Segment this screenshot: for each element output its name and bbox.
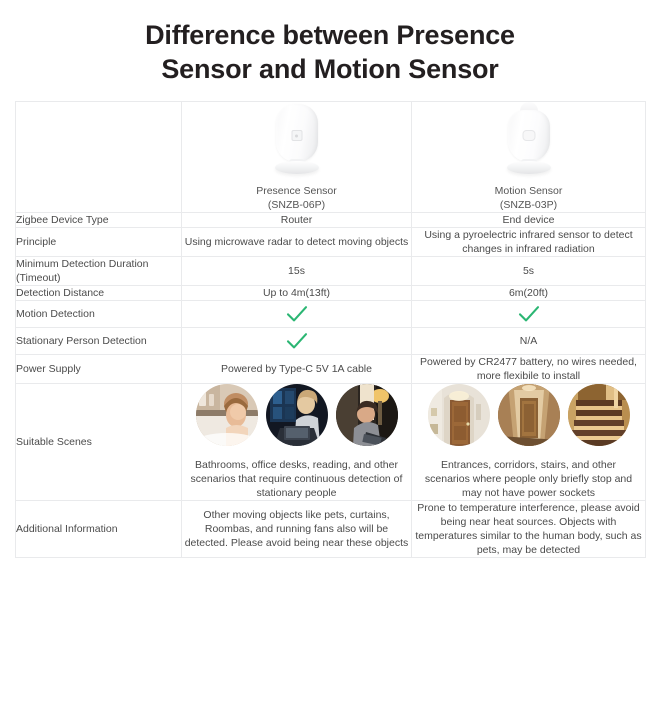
table-row: Detection Distance Up to 4m(13ft) 6m(20f…: [16, 286, 646, 301]
product-cell-presence: Presence Sensor (SNZB-06P): [182, 102, 412, 213]
bathroom-scene-icon: [196, 384, 258, 446]
title-line-1: Difference between Presence: [0, 18, 660, 52]
row-value-presence: Up to 4m(13ft): [182, 286, 412, 301]
check-icon: [286, 305, 308, 323]
scene-thumbnails-presence: [182, 384, 411, 446]
table-row: Stationary Person Detection N/A: [16, 328, 646, 355]
motion-sensor-device-icon: [492, 102, 566, 178]
device-body: [508, 110, 550, 162]
row-value-motion: 6m(20ft): [412, 286, 646, 301]
row-value-motion: [412, 301, 646, 328]
product-model-presence: (SNZB-06P): [182, 198, 411, 212]
row-label: Suitable Scenes: [16, 384, 182, 501]
row-value-presence: 15s: [182, 257, 412, 286]
product-model-motion: (SNZB-03P): [412, 198, 645, 212]
table-row: Principle Using microwave radar to detec…: [16, 228, 646, 257]
row-value-presence: Other moving objects like pets, curtains…: [182, 501, 412, 558]
row-label: Stationary Person Detection: [16, 328, 182, 355]
table-row: Motion Detection: [16, 301, 646, 328]
row-label: Principle: [16, 228, 182, 257]
office-desk-scene-icon: [266, 384, 328, 446]
row-value-presence: Router: [182, 213, 412, 228]
row-label: Detection Distance: [16, 286, 182, 301]
scenes-cell-motion: Entrances, corridors, stairs, and other …: [412, 384, 646, 501]
row-value-presence: [182, 328, 412, 355]
row-label: Minimum Detection Duration (Timeout): [16, 257, 182, 286]
row-value-motion: End device: [412, 213, 646, 228]
row-value-motion: 5s: [412, 257, 646, 286]
reading-scene-icon: [336, 384, 398, 446]
scenes-cell-presence: Bathrooms, office desks, reading, and ot…: [182, 384, 412, 501]
table-row: Power Supply Powered by Type-C 5V 1A cab…: [16, 355, 646, 384]
title-line-2: Sensor and Motion Sensor: [0, 52, 660, 86]
comparison-table: Presence Sensor (SNZB-06P) Motion Sensor…: [15, 101, 646, 558]
row-value-motion: Prone to temperature interference, pleas…: [412, 501, 646, 558]
row-label: Additional Information: [16, 501, 182, 558]
product-cell-motion: Motion Sensor (SNZB-03P): [412, 102, 646, 213]
table-header-row: Presence Sensor (SNZB-06P) Motion Sensor…: [16, 102, 646, 213]
scene-text-presence: Bathrooms, office desks, reading, and ot…: [182, 458, 411, 500]
row-value-presence: Using microwave radar to detect moving o…: [182, 228, 412, 257]
table-row: Zigbee Device Type Router End device: [16, 213, 646, 228]
scene-thumbnails-motion: [412, 384, 645, 446]
product-name-presence: Presence Sensor: [182, 184, 411, 198]
comparison-infographic: Difference between Presence Sensor and M…: [0, 0, 660, 720]
row-label: Power Supply: [16, 355, 182, 384]
stairs-scene-icon: [568, 384, 630, 446]
check-icon: [518, 305, 540, 323]
row-value-motion: Using a pyroelectric infrared sensor to …: [412, 228, 646, 257]
device-base: [275, 161, 319, 174]
row-label: Motion Detection: [16, 301, 182, 328]
scene-text-motion: Entrances, corridors, stairs, and other …: [412, 458, 645, 500]
table-row: Additional Information Other moving obje…: [16, 501, 646, 558]
table-row-scenes: Suitable Scenes: [16, 384, 646, 501]
table-row: Minimum Detection Duration (Timeout) 15s…: [16, 257, 646, 286]
device-body: [276, 104, 318, 162]
entrance-door-scene-icon: [428, 384, 490, 446]
device-base: [507, 161, 551, 174]
row-value-motion: Powered by CR2477 battery, no wires need…: [412, 355, 646, 384]
corridor-scene-icon: [498, 384, 560, 446]
product-name-motion: Motion Sensor: [412, 184, 645, 198]
pir-lens-icon: [522, 130, 535, 141]
check-icon: [286, 332, 308, 350]
page-title: Difference between Presence Sensor and M…: [0, 18, 660, 86]
row-value-presence: [182, 301, 412, 328]
header-empty-cell: [16, 102, 182, 213]
row-label: Zigbee Device Type: [16, 213, 182, 228]
presence-sensor-device-icon: [260, 102, 334, 178]
row-value-motion: N/A: [412, 328, 646, 355]
row-value-presence: Powered by Type-C 5V 1A cable: [182, 355, 412, 384]
radar-lens-icon: [291, 130, 302, 141]
